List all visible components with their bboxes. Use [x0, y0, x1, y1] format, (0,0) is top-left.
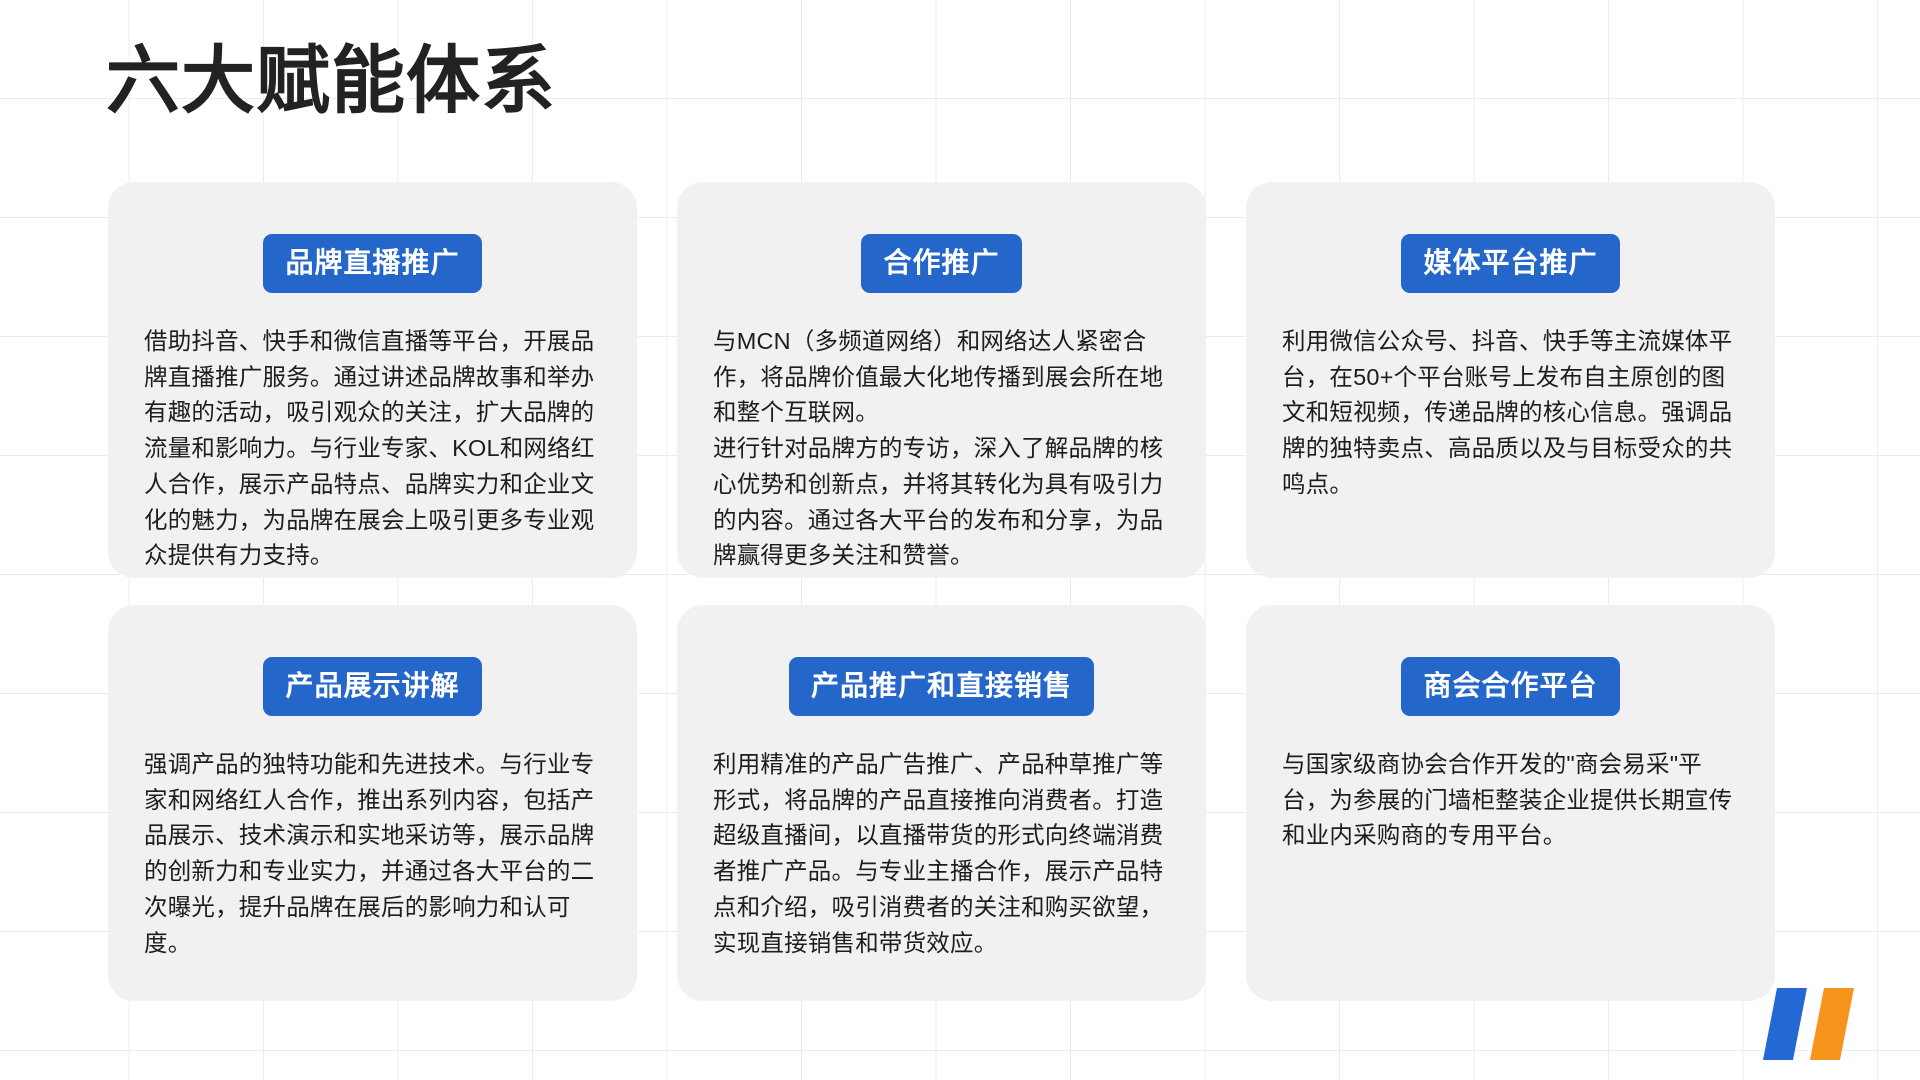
card-grid: 品牌直播推广 借助抖音、快手和微信直播等平台，开展品牌直播推广服务。通过讲述品牌…: [108, 182, 1813, 1001]
brand-bar-orange-icon: [1810, 988, 1854, 1060]
brand-logo-icon: [1760, 984, 1860, 1060]
card-body: 利用微信公众号、抖音、快手等主流媒体平台，在50+个平台账号上发布自主原创的图文…: [1276, 324, 1745, 503]
card-badge: 媒体平台推广: [1401, 234, 1619, 293]
card-body: 利用精准的产品广告推广、产品种草推广等形式，将品牌的产品直接推向消费者。打造超级…: [707, 747, 1176, 961]
brand-bar-blue-icon: [1763, 988, 1807, 1060]
card-body: 强调产品的独特功能和先进技术。与行业专家和网络红人合作，推出系列内容，包括产品展…: [138, 747, 607, 961]
card-chamber-cooperation-platform[interactable]: 商会合作平台 与国家级商协会合作开发的"商会易采"平台，为参展的门墙柜整装企业提…: [1246, 605, 1775, 1001]
card-media-platform-promotion[interactable]: 媒体平台推广 利用微信公众号、抖音、快手等主流媒体平台，在50+个平台账号上发布…: [1246, 182, 1775, 578]
card-badge: 品牌直播推广: [263, 234, 481, 293]
card-body: 与MCN（多频道网络）和网络达人紧密合作，将品牌价值最大化地传播到展会所在地和整…: [707, 324, 1176, 574]
card-body: 借助抖音、快手和微信直播等平台，开展品牌直播推广服务。通过讲述品牌故事和举办有趣…: [138, 324, 607, 574]
page-title: 六大赋能体系: [106, 44, 556, 118]
card-badge: 商会合作平台: [1401, 657, 1619, 716]
card-body: 与国家级商协会合作开发的"商会易采"平台，为参展的门墙柜整装企业提供长期宣传和业…: [1276, 747, 1745, 854]
card-badge: 产品推广和直接销售: [789, 657, 1094, 716]
card-badge: 产品展示讲解: [263, 657, 481, 716]
card-brand-live-promotion[interactable]: 品牌直播推广 借助抖音、快手和微信直播等平台，开展品牌直播推广服务。通过讲述品牌…: [108, 182, 637, 578]
card-product-demo-explanation[interactable]: 产品展示讲解 强调产品的独特功能和先进技术。与行业专家和网络红人合作，推出系列内…: [108, 605, 637, 1001]
slide-root: 六大赋能体系 品牌直播推广 借助抖音、快手和微信直播等平台，开展品牌直播推广服务…: [0, 0, 1920, 1080]
card-cooperative-promotion[interactable]: 合作推广 与MCN（多频道网络）和网络达人紧密合作，将品牌价值最大化地传播到展会…: [677, 182, 1206, 578]
card-product-promotion-direct-sales[interactable]: 产品推广和直接销售 利用精准的产品广告推广、产品种草推广等形式，将品牌的产品直接…: [677, 605, 1206, 1001]
card-badge: 合作推广: [861, 234, 1021, 293]
